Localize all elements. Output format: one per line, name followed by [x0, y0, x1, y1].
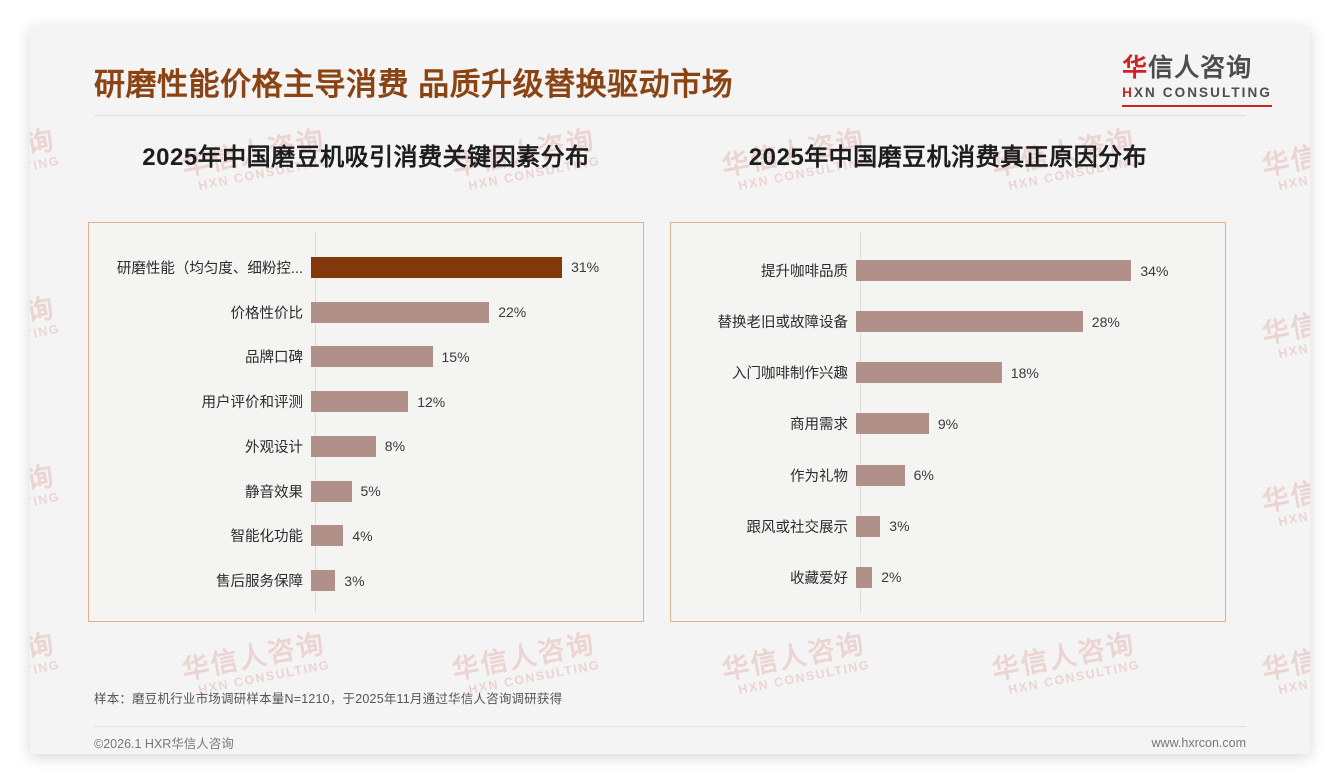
bar-track: 5% [311, 481, 643, 502]
bar[interactable] [311, 346, 433, 367]
chart-panel-left: 2025年中国磨豆机吸引消费关键因素分布 研磨性能（均匀度、细粉控...31%价… [88, 136, 644, 622]
bar-value-label: 2% [881, 569, 901, 585]
bar[interactable] [311, 302, 489, 323]
bar-category-label: 静音效果 [89, 481, 311, 502]
bar-track: 3% [311, 570, 643, 591]
watermark-text: 华信人咨询HXN CONSULTING [30, 630, 61, 699]
bar[interactable] [856, 362, 1002, 383]
watermark-text: 华信人咨询HXN CONSULTING [1260, 630, 1310, 699]
footer-copyright: ©2026.1 HXR华信人咨询 [94, 733, 234, 752]
bar-track: 8% [311, 436, 643, 457]
bar-track: 18% [856, 362, 1225, 383]
bar-row[interactable]: 价格性价比22% [89, 296, 643, 328]
bar-row[interactable]: 提升咖啡品质34% [671, 255, 1225, 287]
sample-note: 样本：磨豆机行业市场调研样本量N=1210，于2025年11月通过华信人咨询调研… [94, 688, 1194, 716]
bar-category-label: 品牌口碑 [89, 346, 311, 367]
bar-row[interactable]: 跟风或社交展示3% [671, 510, 1225, 542]
watermark-text: 华信人咨询HXN CONSULTING [1260, 126, 1310, 195]
footer-divider [94, 726, 1246, 727]
bar-category-label: 研磨性能（均匀度、细粉控... [89, 257, 311, 278]
bar-value-label: 31% [571, 259, 599, 275]
bar-value-label: 34% [1140, 263, 1168, 279]
watermark-text: 华信人咨询HXN CONSULTING [30, 462, 61, 531]
bar-track: 6% [856, 465, 1225, 486]
watermark-text: 华信人咨询HXN CONSULTING [1260, 462, 1310, 531]
bar[interactable] [311, 481, 352, 502]
chart-card-right: 提升咖啡品质34%替换老旧或故障设备28%入门咖啡制作兴趣18%商用需求9%作为… [670, 222, 1226, 622]
bar-value-label: 28% [1092, 314, 1120, 330]
bar-row[interactable]: 研磨性能（均匀度、细粉控...31% [89, 251, 643, 283]
bar-row[interactable]: 静音效果5% [89, 475, 643, 507]
bar-row[interactable]: 智能化功能4% [89, 520, 643, 552]
bar-track: 3% [856, 516, 1225, 537]
header-divider [94, 115, 1246, 116]
bar-row[interactable]: 品牌口碑15% [89, 341, 643, 373]
bar-value-label: 8% [385, 438, 405, 454]
bar-value-label: 12% [417, 394, 445, 410]
bar-category-label: 替换老旧或故障设备 [671, 311, 856, 332]
bar[interactable] [856, 311, 1083, 332]
bar[interactable] [856, 413, 929, 434]
chart-title-left: 2025年中国磨豆机吸引消费关键因素分布 [88, 136, 644, 180]
bar-category-label: 用户评价和评测 [89, 391, 311, 412]
bar[interactable] [311, 436, 376, 457]
bar-category-label: 价格性价比 [89, 302, 311, 323]
bar-value-label: 9% [938, 416, 958, 432]
bar-row[interactable]: 入门咖啡制作兴趣18% [671, 357, 1225, 389]
bar[interactable] [856, 567, 872, 588]
bar-category-label: 外观设计 [89, 436, 311, 457]
bar-track: 2% [856, 567, 1225, 588]
bar-category-label: 作为礼物 [671, 465, 856, 486]
bar-category-label: 收藏爱好 [671, 567, 856, 588]
bar-category-label: 跟风或社交展示 [671, 516, 856, 537]
sample-note-text: 样本：磨豆机行业市场调研样本量N=1210，于2025年11月通过华信人咨询调研… [94, 688, 1194, 716]
bar-value-label: 3% [344, 573, 364, 589]
chart-axis-left [315, 231, 316, 613]
bar-category-label: 入门咖啡制作兴趣 [671, 362, 856, 383]
bar-row[interactable]: 外观设计8% [89, 430, 643, 462]
watermark-text: 华信人咨询HXN CONSULTING [1260, 294, 1310, 363]
logo-chinese: 华信人咨询 [1122, 56, 1272, 81]
bar-track: 31% [311, 257, 643, 278]
bar-value-label: 5% [361, 483, 381, 499]
bar-row[interactable]: 用户评价和评测12% [89, 386, 643, 418]
bar-track: 22% [311, 302, 643, 323]
chart-panel-right: 2025年中国磨豆机消费真正原因分布 提升咖啡品质34%替换老旧或故障设备28%… [670, 136, 1226, 622]
bar-value-label: 3% [889, 518, 909, 534]
bar-track: 28% [856, 311, 1225, 332]
watermark-text: 华信人咨询HXN CONSULTING [30, 294, 61, 363]
slide-header: 研磨性能价格主导消费 品质升级替换驱动市场 华信人咨询 HXN CONSULTI… [30, 26, 1310, 118]
logo-english-rest: XN CONSULTING [1134, 85, 1272, 100]
bar-value-label: 18% [1011, 365, 1039, 381]
bar-category-label: 提升咖啡品质 [671, 260, 856, 281]
bar-chart-left: 研磨性能（均匀度、细粉控...31%价格性价比22%品牌口碑15%用户评价和评测… [89, 223, 643, 621]
logo-english: HXN CONSULTING [1122, 86, 1272, 100]
bar-category-label: 商用需求 [671, 413, 856, 434]
bar[interactable] [311, 570, 335, 591]
bar-chart-right: 提升咖啡品质34%替换老旧或故障设备28%入门咖啡制作兴趣18%商用需求9%作为… [671, 223, 1225, 621]
logo-chinese-rest: 信人咨询 [1148, 54, 1252, 82]
bar-value-label: 22% [498, 304, 526, 320]
logo-h-character: H [1122, 85, 1134, 100]
bar[interactable] [856, 465, 905, 486]
bar[interactable] [856, 260, 1131, 281]
bar-row[interactable]: 收藏爱好2% [671, 561, 1225, 593]
bar-value-label: 4% [352, 528, 372, 544]
bar-category-label: 智能化功能 [89, 525, 311, 546]
bar-row[interactable]: 售后服务保障3% [89, 565, 643, 597]
slide-footer: ©2026.1 HXR华信人咨询 www.hxrcon.com [94, 733, 1246, 752]
bar-row[interactable]: 作为礼物6% [671, 459, 1225, 491]
bar[interactable] [856, 516, 880, 537]
footer-website[interactable]: www.hxrcon.com [1152, 736, 1246, 750]
bar-row[interactable]: 替换老旧或故障设备28% [671, 306, 1225, 338]
bar-track: 12% [311, 391, 643, 412]
bar[interactable] [311, 525, 343, 546]
bar-track: 4% [311, 525, 643, 546]
logo-hua-character: 华 [1122, 54, 1148, 82]
page-title: 研磨性能价格主导消费 品质升级替换驱动市场 [94, 59, 733, 104]
chart-title-right: 2025年中国磨豆机消费真正原因分布 [670, 136, 1226, 180]
slide-canvas: 华信人咨询HXN CONSULTING华信人咨询HXN CONSULTING华信… [30, 26, 1310, 754]
bar[interactable] [311, 391, 408, 412]
bar-track: 9% [856, 413, 1225, 434]
chart-card-left: 研磨性能（均匀度、细粉控...31%价格性价比22%品牌口碑15%用户评价和评测… [88, 222, 644, 622]
bar-value-label: 15% [442, 349, 470, 365]
bar[interactable] [311, 257, 562, 278]
watermark-text: 华信人咨询HXN CONSULTING [30, 126, 61, 195]
brand-logo: 华信人咨询 HXN CONSULTING [1122, 56, 1272, 107]
bar-track: 15% [311, 346, 643, 367]
logo-underline [1122, 105, 1272, 107]
bar-value-label: 6% [914, 467, 934, 483]
bar-category-label: 售后服务保障 [89, 570, 311, 591]
bar-row[interactable]: 商用需求9% [671, 408, 1225, 440]
bar-track: 34% [856, 260, 1225, 281]
